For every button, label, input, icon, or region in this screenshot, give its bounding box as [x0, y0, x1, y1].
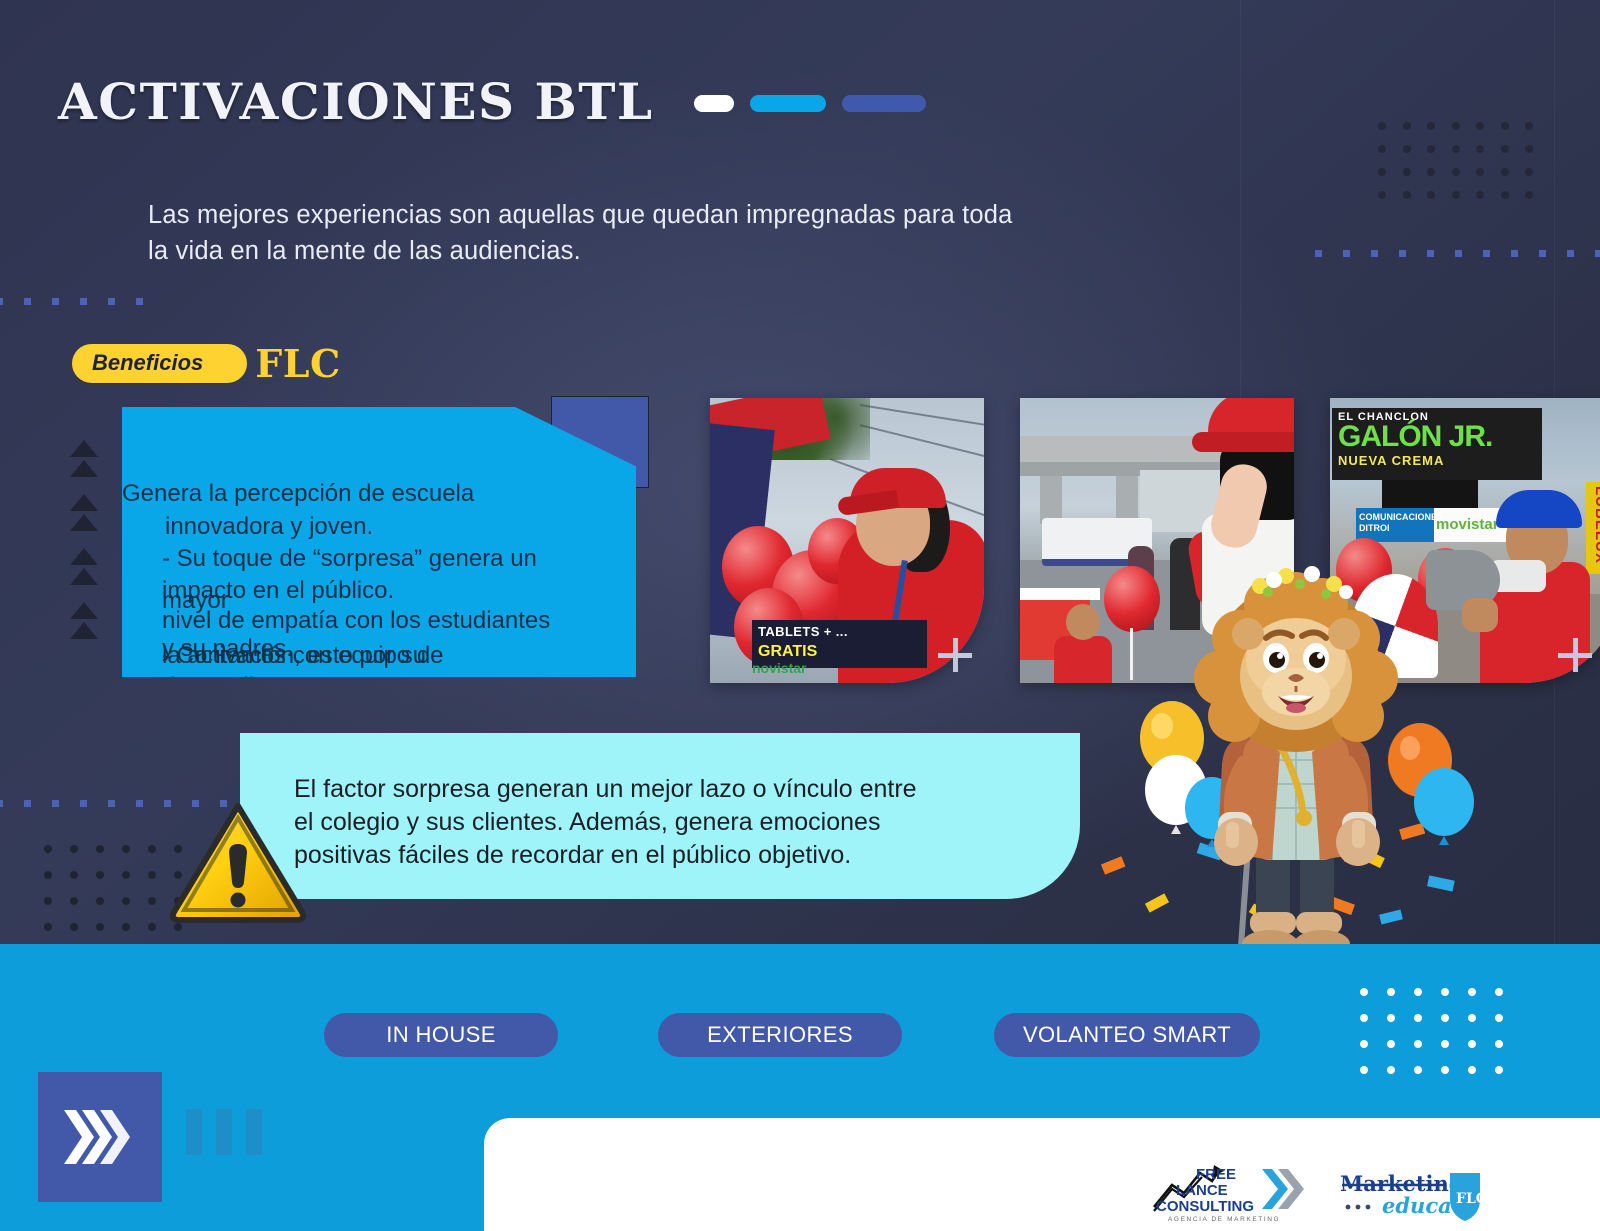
dash [24, 800, 31, 807]
dot [70, 845, 78, 853]
triangle-marker [70, 494, 98, 511]
dash [1427, 250, 1434, 257]
dot [1427, 191, 1435, 199]
dot [1476, 191, 1484, 199]
dot [44, 923, 52, 931]
logo-flc-word3: CONSULTING [1156, 1198, 1254, 1215]
dot [122, 845, 130, 853]
dot [1427, 145, 1435, 153]
dot [1378, 122, 1386, 130]
dash [1399, 250, 1406, 257]
callout-line-3: positivas fáciles de recordar en el públ… [294, 839, 1024, 872]
dot [1403, 168, 1411, 176]
benefits-brand-label: FLC [255, 341, 340, 386]
logo-group: FREE LANCE CONSULTING AGENCIA DE MARKETI… [1150, 1159, 1486, 1225]
nav-in-house[interactable]: IN HOUSE [324, 1013, 558, 1057]
dot [1501, 191, 1509, 199]
dot [1525, 145, 1533, 153]
dot [148, 871, 156, 879]
dot [1525, 191, 1533, 199]
photo3-shop-left: COMUNICACIONES DITROI [1356, 508, 1434, 542]
intro-line-1: Las mejores experiencias son aquellas qu… [148, 197, 1148, 233]
dot [1452, 145, 1460, 153]
dot [70, 871, 78, 879]
dot [148, 923, 156, 931]
dash [1511, 250, 1518, 257]
dash [52, 298, 59, 305]
dot [1525, 168, 1533, 176]
dash [1567, 250, 1574, 257]
photo1-sign-gratis: GRATIS [752, 643, 927, 661]
dash [136, 800, 143, 807]
decorative-triangle-column [70, 440, 98, 639]
decorative-dash-row-left [0, 298, 143, 305]
dot [70, 897, 78, 905]
dot [1501, 122, 1509, 130]
pill-white [694, 95, 734, 112]
dot [122, 897, 130, 905]
pill-blue [842, 95, 926, 112]
dot [1476, 122, 1484, 130]
dot [96, 845, 104, 853]
dot [1427, 168, 1435, 176]
dash [108, 298, 115, 305]
dash [80, 298, 87, 305]
dash [52, 800, 59, 807]
dash [24, 298, 31, 305]
dot [122, 871, 130, 879]
callout-text: El factor sorpresa generan un mejor lazo… [294, 773, 1024, 872]
nav-exteriores[interactable]: EXTERIORES [658, 1013, 902, 1057]
benefits-line-1: Genera la percepción de escuela [122, 477, 474, 510]
callout-line-2: el colegio y sus clientes. Además, gener… [294, 806, 1024, 839]
photo3-lubelux: LUBELUX [1586, 482, 1600, 564]
dot [1403, 145, 1411, 153]
dash [136, 298, 143, 305]
intro-paragraph: Las mejores experiencias son aquellas qu… [148, 197, 1148, 269]
dot [96, 871, 104, 879]
photo3-sign-sub: NUEVA CREMA [1332, 452, 1542, 469]
lion-mascot-illustration [1090, 560, 1510, 960]
logo-flc-word1: FREE [1196, 1166, 1236, 1183]
dot [44, 845, 52, 853]
dash [1483, 250, 1490, 257]
triangle-marker [70, 514, 98, 531]
dot [148, 845, 156, 853]
callout-line-1: El factor sorpresa generan un mejor lazo… [294, 773, 1024, 806]
photo3-sign-main: GALÓN JR. [1332, 423, 1542, 452]
dot [44, 871, 52, 879]
triangle-marker [70, 460, 98, 477]
plus-icon [938, 638, 972, 672]
decorative-bars [186, 1109, 262, 1155]
dot [1378, 191, 1386, 199]
dash [1455, 250, 1462, 257]
dash [1595, 250, 1600, 257]
triangle-marker [70, 568, 98, 585]
dot [96, 897, 104, 905]
bar [246, 1109, 262, 1155]
dot [1452, 191, 1460, 199]
dot [70, 923, 78, 931]
dot [1476, 145, 1484, 153]
dot [1427, 122, 1435, 130]
intro-line-2: la vida en la mente de las audiencias. [148, 233, 1148, 269]
benefits-tag: Beneficios [72, 344, 247, 383]
title-row: ACTIVACIONES BTL [58, 72, 926, 131]
dash [80, 800, 87, 807]
triangle-marker [70, 602, 98, 619]
dash [1315, 250, 1322, 257]
nav-volanteo-smart[interactable]: VOLANTEO SMART [994, 1013, 1260, 1057]
benefits-line-6-overlap: docentes [162, 670, 259, 703]
logo-freelance-consulting: FREE LANCE CONSULTING AGENCIA DE MARKETI… [1150, 1159, 1310, 1225]
dot [1403, 122, 1411, 130]
dash [108, 800, 115, 807]
benefits-line-2: innovadora y joven. [165, 510, 373, 543]
bar [216, 1109, 232, 1155]
logo-flc-tagline: AGENCIA DE MARKETING [1168, 1216, 1280, 1223]
dash [1539, 250, 1546, 257]
benefits-line-3: - Su toque de “sorpresa” genera un [162, 542, 537, 575]
triangle-marker [70, 440, 98, 457]
logo-marketing-educa: Marketing educa FLC [1336, 1165, 1486, 1225]
bar [186, 1109, 202, 1155]
dot [96, 923, 104, 931]
dot [1452, 168, 1460, 176]
page-title: ACTIVACIONES BTL [58, 72, 654, 131]
warning-triangle-icon [168, 800, 308, 924]
dot [174, 923, 182, 931]
dot [1452, 122, 1460, 130]
dot [1501, 145, 1509, 153]
pill-cyan [750, 95, 826, 112]
dot [1501, 168, 1509, 176]
dash [0, 298, 3, 305]
benefits-heading: Beneficios FLC [72, 341, 341, 386]
benefits-line-4-overlap: mayor [162, 584, 229, 617]
photo1-sign-tablets: TABLETS + ... [752, 620, 927, 643]
photo1-brand: novistar [752, 660, 806, 676]
dot [148, 897, 156, 905]
dash [1343, 250, 1350, 257]
logo-flc-word2: LANCE [1176, 1182, 1228, 1199]
triangle-marker [70, 622, 98, 639]
dash [0, 800, 3, 807]
decorative-dash-row-right [1315, 250, 1600, 257]
dot [122, 923, 130, 931]
callout-box: El factor sorpresa generan un mejor lazo… [240, 733, 1080, 899]
triple-chevron-icon [38, 1072, 162, 1202]
plus-icon [1558, 638, 1592, 672]
benefits-line-5: - Contamos con equipo de [162, 639, 444, 672]
logo-me-shield: FLC [1456, 1191, 1486, 1207]
dot [1476, 168, 1484, 176]
dot [1378, 168, 1386, 176]
slide-root: ACTIVACIONES BTL Las mejores experiencia… [0, 0, 1600, 1231]
title-pill-group [694, 95, 926, 112]
dot [1525, 122, 1533, 130]
dot [1403, 191, 1411, 199]
photo3-shop-right: movistar [1436, 516, 1499, 533]
logo-me-word2: educa [1382, 1193, 1452, 1218]
benefits-info-box: Genera la percepción de escuela innovado… [122, 407, 636, 677]
dash [1371, 250, 1378, 257]
dot [44, 897, 52, 905]
triangle-marker [70, 548, 98, 565]
dot [1378, 145, 1386, 153]
